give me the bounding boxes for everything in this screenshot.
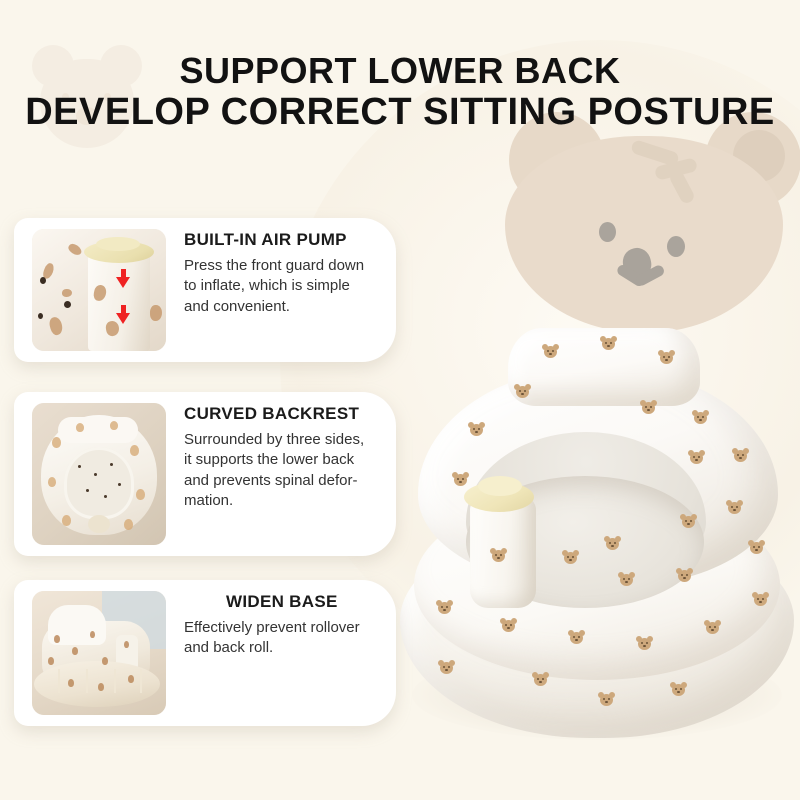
press-down-arrow-icon xyxy=(116,313,130,324)
bear-print-blob xyxy=(124,519,133,530)
product-air-pump-cap-top xyxy=(478,476,522,496)
bear-eye-right xyxy=(667,236,685,257)
air-pump-closeup-photo xyxy=(32,229,166,351)
base-seam xyxy=(140,669,142,693)
bear-print-dark-blob xyxy=(38,313,43,319)
bear-print-icon xyxy=(732,448,749,463)
bear-print-icon xyxy=(752,592,769,607)
bear-print-blob xyxy=(48,657,54,665)
feature-title: CURVED BACKREST xyxy=(184,404,382,424)
bear-print-icon xyxy=(562,550,579,565)
feature-card-built-in-air-pump[interactable]: BUILT-IN AIR PUMP Press the front guard … xyxy=(14,218,396,362)
feature-body: Press the front guard down to inflate, w… xyxy=(184,256,382,317)
bear-print-icon xyxy=(490,548,507,563)
bear-print-blob xyxy=(124,641,129,648)
product-image-inflatable-baby-seat xyxy=(392,300,800,770)
bear-print-icon xyxy=(514,384,531,399)
bear-print-blob xyxy=(54,635,60,643)
bear-print-blob xyxy=(136,489,145,500)
bear-print-icon xyxy=(568,630,585,645)
curved-backrest-topdown-photo xyxy=(32,403,166,545)
air-pump-cylinder xyxy=(88,251,150,351)
bear-print-icon xyxy=(676,568,693,583)
headline-line-2: DEVELOP CORRECT SITTING POSTURE xyxy=(0,91,800,134)
air-pump-scene xyxy=(32,229,166,351)
bear-print-blob xyxy=(68,679,74,687)
bear-print-icon xyxy=(532,672,549,687)
bear-print-icon xyxy=(726,500,743,515)
bear-print-blob xyxy=(110,421,118,430)
bear-print-blob xyxy=(150,305,162,321)
bear-print-blob xyxy=(62,515,71,526)
bear-print-icon xyxy=(600,336,617,351)
headrest-pillow xyxy=(58,417,138,443)
bear-print-icon xyxy=(604,536,621,551)
feature-card-widen-base[interactable]: WIDEN BASE Effectively prevent rollover … xyxy=(14,580,396,726)
bear-print-icon xyxy=(452,472,469,487)
bear-eye-left xyxy=(599,222,616,242)
bear-print-icon xyxy=(436,600,453,615)
press-down-arrow-stem xyxy=(121,269,126,278)
seat-texture-dot xyxy=(110,463,113,466)
bear-print-icon xyxy=(468,422,485,437)
bear-print-icon xyxy=(640,400,657,415)
bear-print-blob xyxy=(130,445,139,456)
bear-print-blob xyxy=(52,437,61,448)
seat-texture-dot xyxy=(86,489,89,492)
seat-inner-well xyxy=(64,447,134,519)
bear-print-icon xyxy=(636,636,653,651)
feature-title: WIDEN BASE xyxy=(184,592,382,612)
bear-print-blob xyxy=(72,647,78,655)
bear-print-icon xyxy=(500,618,517,633)
headline-line-1: SUPPORT LOWER BACK xyxy=(0,50,800,91)
press-down-arrow-stem xyxy=(121,305,126,314)
air-pump-cap-top xyxy=(96,237,140,251)
feature-card-text: CURVED BACKREST Surrounded by three side… xyxy=(184,404,382,511)
feature-title: BUILT-IN AIR PUMP xyxy=(184,230,382,250)
bear-print-blob xyxy=(48,477,56,487)
bear-print-dark-blob xyxy=(40,277,46,284)
bear-print-icon xyxy=(438,660,455,675)
bear-print-icon xyxy=(598,692,615,707)
base-seam xyxy=(114,669,116,693)
bear-print-icon xyxy=(688,450,705,465)
bear-print-blob xyxy=(98,683,104,691)
widen-base-photo xyxy=(32,591,166,715)
bear-print-icon xyxy=(670,682,687,697)
bear-print-blob xyxy=(90,631,95,638)
bear-print-blob xyxy=(128,675,134,683)
bear-print-icon xyxy=(680,514,697,529)
feature-body: Effectively prevent rollover and back ro… xyxy=(184,618,382,659)
bear-print-blob xyxy=(102,657,108,665)
air-valve-knob xyxy=(88,515,110,533)
seat-texture-dot xyxy=(78,465,81,468)
seat-texture-dot xyxy=(94,473,97,476)
feature-card-curved-backrest[interactable]: CURVED BACKREST Surrounded by three side… xyxy=(14,392,396,556)
feature-card-text: BUILT-IN AIR PUMP Press the front guard … xyxy=(184,230,382,317)
base-seam xyxy=(58,669,60,693)
base-seam xyxy=(86,669,88,693)
seat-texture-dot xyxy=(104,495,107,498)
headline: SUPPORT LOWER BACK DEVELOP CORRECT SITTI… xyxy=(0,50,800,134)
seat-texture-dot xyxy=(118,483,121,486)
bear-print-icon xyxy=(542,344,559,359)
press-down-arrow-icon xyxy=(116,277,130,288)
bear-print-icon xyxy=(704,620,721,635)
feature-card-text: WIDEN BASE Effectively prevent rollover … xyxy=(184,592,382,659)
feature-body: Surrounded by three sides, it supports t… xyxy=(184,430,382,511)
bear-print-blob xyxy=(76,423,84,432)
bear-print-icon xyxy=(658,350,675,365)
bear-print-dark-blob xyxy=(64,301,71,308)
bear-print-icon xyxy=(748,540,765,555)
curved-backrest-scene xyxy=(32,403,166,545)
widen-base-scene xyxy=(32,591,166,715)
product-infographic-poster: SUPPORT LOWER BACK DEVELOP CORRECT SITTI… xyxy=(0,0,800,800)
bear-print-icon xyxy=(618,572,635,587)
bear-print-icon xyxy=(692,410,709,425)
